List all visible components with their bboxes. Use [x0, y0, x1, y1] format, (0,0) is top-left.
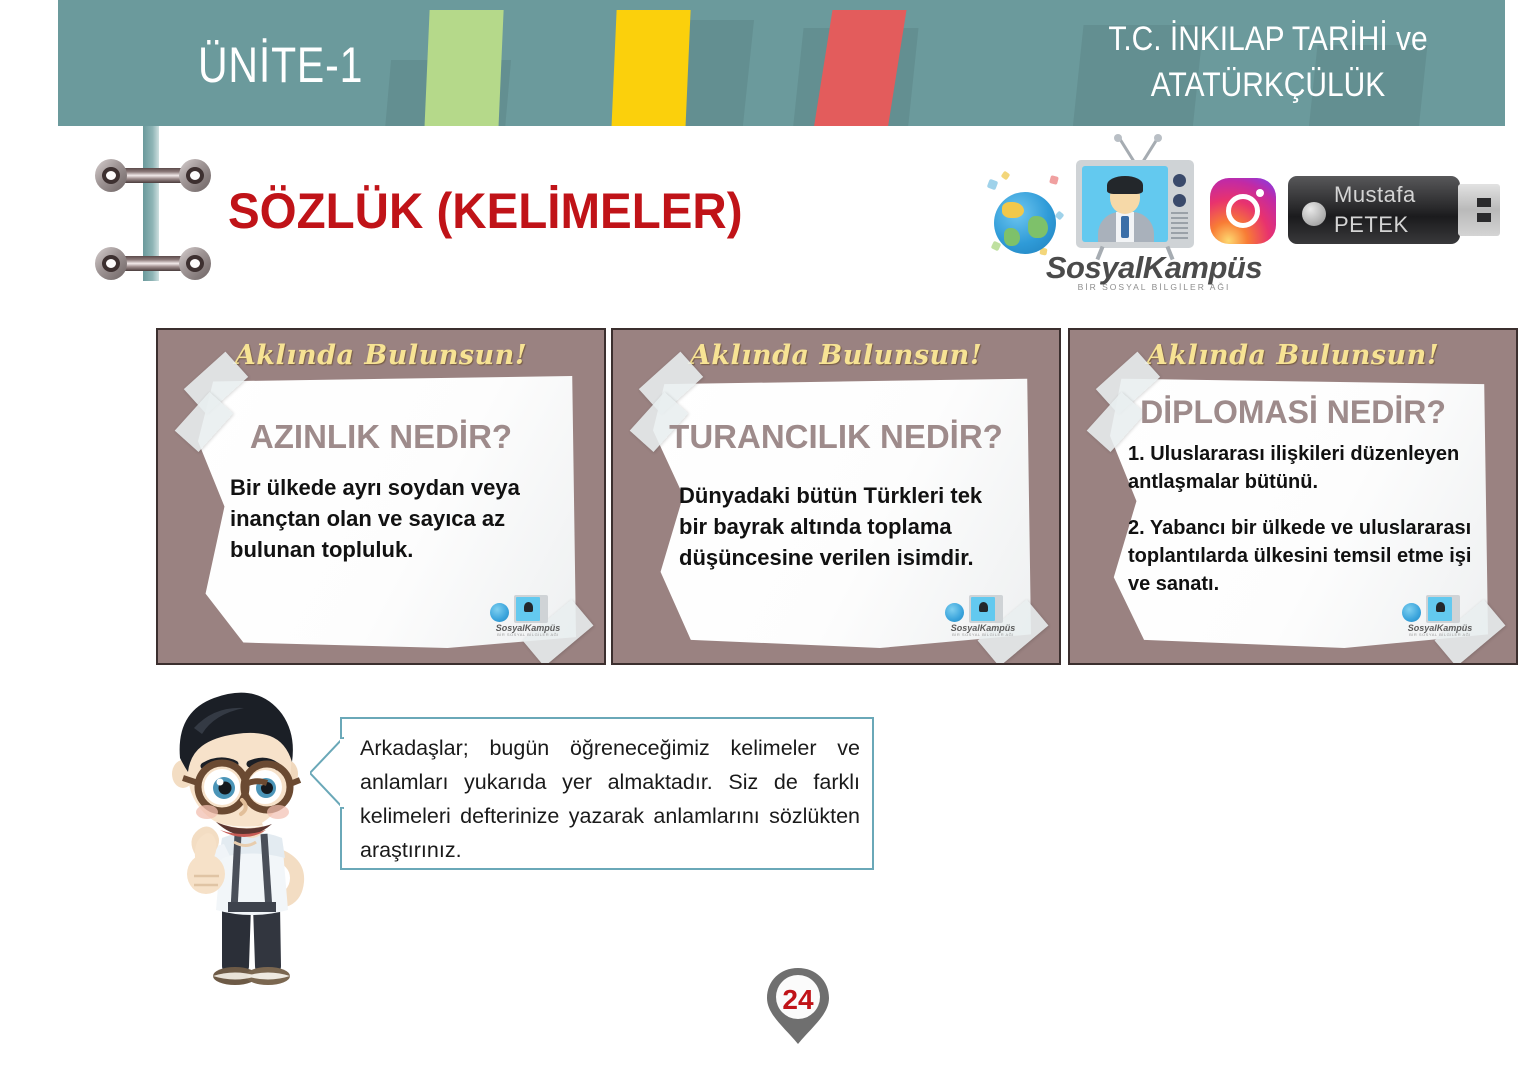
- card-watermark-logo: SosyalKampüs BİR SOSYAL BİLGİLER AĞI: [1402, 595, 1478, 637]
- globe-landmass: [1028, 216, 1048, 238]
- card-body: Bir ülkede ayrı soydan veya inançtan ola…: [230, 472, 540, 565]
- card-title: AZINLIK NEDİR?: [158, 418, 604, 456]
- usb-body: Mustafa PETEK: [1288, 176, 1460, 244]
- tv-speaker-grill: [1171, 212, 1188, 240]
- tv-knob: [1173, 194, 1186, 207]
- instagram-dot: [1256, 189, 1264, 197]
- instagram-lens: [1226, 194, 1260, 228]
- card-body: Dünyadaki bütün Türkleri tek bir bayrak …: [679, 480, 999, 573]
- binder-clip-top: [95, 157, 211, 195]
- television-icon: [1076, 160, 1194, 252]
- vocabulary-card: Aklında Bulunsun! AZINLIK NEDİR? Bir ülk…: [156, 328, 606, 665]
- tv-body: [1076, 160, 1194, 248]
- card-title: DİPLOMASİ NEDİR?: [1070, 394, 1516, 431]
- globe-icon: [945, 603, 964, 622]
- presenter-tie: [1121, 216, 1129, 238]
- brand-name: SosyalKampüs: [1044, 250, 1264, 286]
- globe-landmass: [1004, 228, 1020, 246]
- speech-bubble-text: Arkadaşlar; bugün öğreneceğimiz kelimele…: [360, 731, 860, 867]
- sparkle-icon: [1049, 175, 1059, 185]
- globe-icon: [1402, 603, 1421, 622]
- header-stripe-green: [424, 10, 503, 126]
- page-number-marker: 24: [765, 966, 831, 1046]
- binder-clip-ring-right: [179, 159, 211, 192]
- course-title-line2: ATATÜRKÇÜLÜK: [1048, 62, 1488, 108]
- brand-tagline: BİR SOSYAL BİLGİLER AĞI: [1044, 282, 1264, 292]
- brand-cluster: SosyalKampüs BİR SOSYAL BİLGİLER AĞI Mus…: [988, 150, 1508, 300]
- usb-drive-logo: Mustafa PETEK: [1288, 172, 1500, 248]
- page-number: 24: [765, 984, 831, 1016]
- binder-clip-ring-left: [95, 159, 127, 192]
- page-title: SÖZLÜK (KELİMELER): [228, 182, 743, 240]
- card-watermark-logo: SosyalKampüs BİR SOSYAL BİLGİLER AĞI: [490, 595, 566, 637]
- card-body-item-2: 2. Yabancı bir ülkede ve uluslararası to…: [1128, 514, 1473, 598]
- sparkle-icon: [1001, 171, 1011, 181]
- student-mascot-icon: [150, 688, 355, 988]
- watermark-tagline: BİR SOSYAL BİLGİLER AĞI: [490, 632, 566, 637]
- television-icon: [969, 595, 1003, 623]
- usb-button: [1302, 202, 1326, 226]
- globe-icon: [490, 603, 509, 622]
- vocabulary-card: Aklında Bulunsun! DİPLOMASİ NEDİR? 1. Ul…: [1068, 328, 1518, 665]
- author-first-name: Mustafa: [1334, 180, 1460, 210]
- globe-landmass: [1002, 202, 1024, 218]
- binder-clip-ring-left: [95, 247, 127, 280]
- sparkle-icon: [987, 179, 999, 191]
- instagram-icon[interactable]: [1210, 178, 1276, 244]
- television-icon: [1426, 595, 1460, 623]
- vocabulary-card: Aklında Bulunsun! TURANCILIK NEDİR? Düny…: [611, 328, 1061, 665]
- card-body-item-1: 1. Uluslararası ilişkileri düzenleyen an…: [1128, 440, 1473, 496]
- course-title: T.C. İNKILAP TARİHİ ve ATATÜRKÇÜLÜK: [1048, 16, 1488, 108]
- author-last-name: PETEK: [1334, 210, 1460, 240]
- course-title-line1: T.C. İNKILAP TARİHİ ve: [1048, 16, 1488, 62]
- tv-knob: [1173, 174, 1186, 187]
- globe-icon: [994, 192, 1056, 254]
- usb-connector: [1458, 184, 1500, 236]
- watermark-tagline: BİR SOSYAL BİLGİLER AĞI: [1402, 632, 1478, 637]
- slide-root: ÜNİTE-1 T.C. İNKILAP TARİHİ ve ATATÜRKÇÜ…: [0, 0, 1527, 1080]
- card-title: TURANCILIK NEDİR?: [613, 418, 1059, 456]
- speech-bubble-tail: [310, 737, 344, 809]
- television-icon: [514, 595, 548, 623]
- card-body: 1. Uluslararası ilişkileri düzenleyen an…: [1128, 440, 1473, 598]
- card-watermark-logo: SosyalKampüs BİR SOSYAL BİLGİLER AĞI: [945, 595, 1021, 637]
- binder-clip-ring-right: [179, 247, 211, 280]
- binder-clip-bottom: [95, 245, 211, 283]
- presenter-hair: [1107, 176, 1143, 194]
- author-name: Mustafa PETEK: [1334, 180, 1460, 240]
- speech-bubble: Arkadaşlar; bugün öğreneceğimiz kelimele…: [340, 717, 874, 870]
- watermark-tagline: BİR SOSYAL BİLGİLER AĞI: [945, 632, 1021, 637]
- student-mascot-svg: [150, 688, 355, 988]
- slide-header-bar: ÜNİTE-1 T.C. İNKILAP TARİHİ ve ATATÜRKÇÜ…: [58, 0, 1505, 126]
- sparkle-icon: [1055, 211, 1065, 221]
- tv-screen: [1082, 166, 1168, 242]
- header-stripe-yellow: [611, 10, 690, 126]
- unit-label: ÜNİTE-1: [198, 36, 363, 94]
